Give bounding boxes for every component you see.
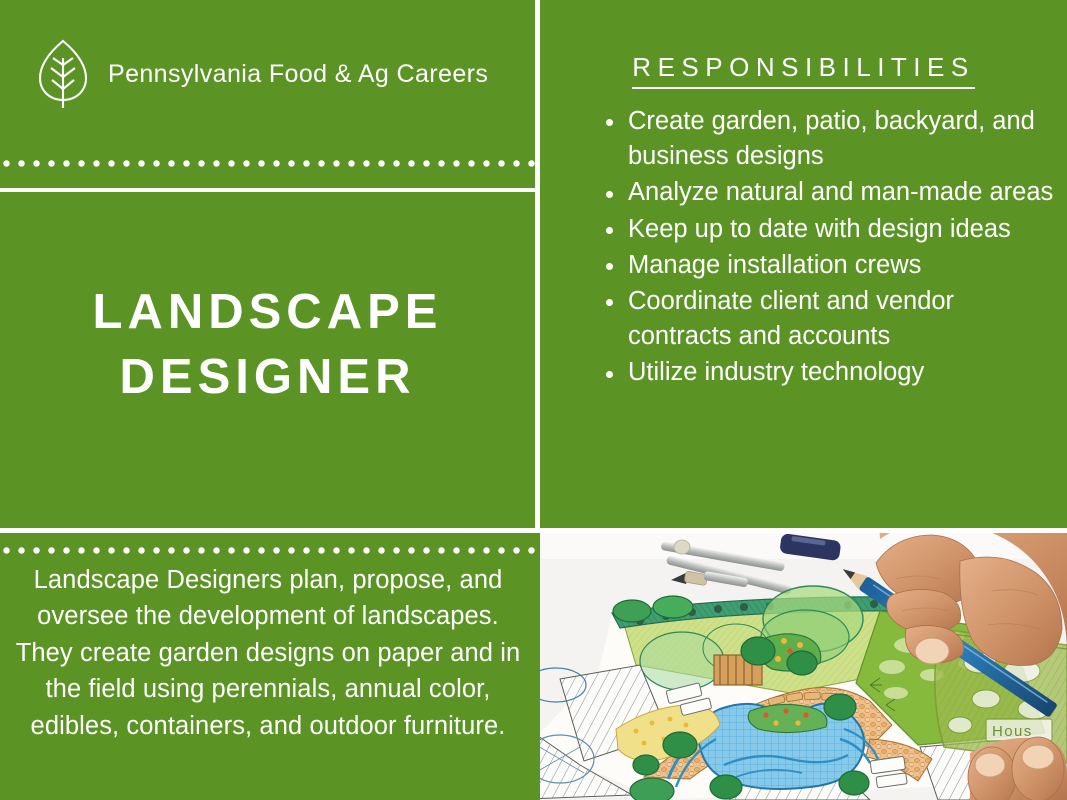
job-description: Landscape Designers plan, propose, and o…: [8, 562, 528, 744]
dotted-divider-bottom: [3, 547, 535, 554]
brand-name: Pennsylvania Food & Ag Careers: [108, 60, 488, 89]
list-item-label: Utilize industry technology: [628, 358, 924, 386]
list-item: Utilize industry technology: [600, 355, 1055, 390]
list-item-label: Create garden, patio, backyard, and busi…: [628, 107, 1035, 170]
bullet-icon: [606, 191, 613, 198]
list-item: Keep up to date with design ideas: [600, 212, 1055, 247]
page-title: LANDSCAPE DESIGNER: [0, 280, 535, 409]
list-item: Create garden, patio, backyard, and busi…: [600, 104, 1055, 174]
bullet-icon: [606, 227, 613, 234]
list-item: Manage installation crews: [600, 248, 1055, 283]
list-item-label: Keep up to date with design ideas: [628, 215, 1011, 243]
list-item: Analyze natural and man-made areas: [600, 175, 1055, 210]
list-item-label: Manage installation crews: [628, 251, 921, 279]
header-underline: [0, 188, 535, 192]
landscape-design-illustration: Hous: [540, 533, 1067, 800]
responsibilities-heading: RESPONSIBILITIES: [540, 52, 1067, 83]
responsibilities-list: Create garden, patio, backyard, and busi…: [600, 104, 1055, 392]
dotted-divider-top: [3, 160, 535, 167]
brand-lockup: Pennsylvania Food & Ag Careers: [34, 38, 488, 110]
job-title-line-2: DESIGNER: [0, 345, 535, 410]
job-title-line-1: LANDSCAPE: [0, 280, 535, 345]
list-item-label: Coordinate client and vendor contracts a…: [628, 287, 954, 350]
landscape-design-photo: Hous: [540, 533, 1067, 800]
list-item: Coordinate client and vendor contracts a…: [600, 284, 1055, 354]
bullet-icon: [606, 299, 613, 306]
horizontal-divider-left: [0, 528, 535, 533]
bullet-icon: [606, 371, 613, 378]
leaf-icon: [34, 38, 92, 110]
stencil-label: Hous: [992, 723, 1033, 740]
list-item-label: Analyze natural and man-made areas: [628, 178, 1053, 206]
bullet-icon: [606, 263, 613, 270]
bullet-icon: [606, 119, 613, 126]
responsibilities-heading-text: RESPONSIBILITIES: [632, 52, 974, 89]
infographic-poster: Pennsylvania Food & Ag Careers LANDSCAPE…: [0, 0, 1067, 800]
